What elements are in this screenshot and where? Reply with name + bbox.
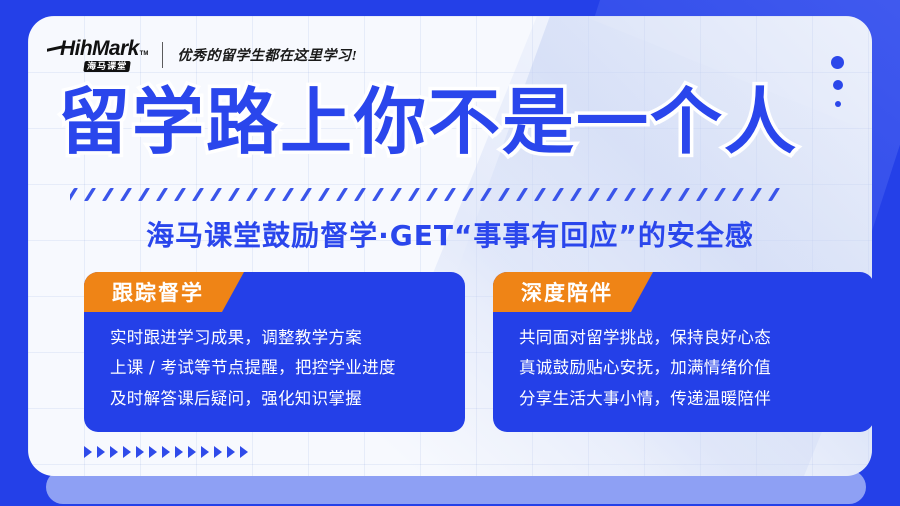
slash-dash-icon xyxy=(282,188,294,201)
slash-dash-icon xyxy=(444,188,456,201)
trademark-icon: TM xyxy=(140,51,149,57)
logo-suffix-text: hMark xyxy=(80,38,139,59)
arrow-right-icon xyxy=(227,446,235,458)
subtitle-text: 海马课堂鼓励督学·GET“事事有回应”的安全感 xyxy=(28,214,872,254)
card-body-tracking: 实时跟进学习成果，调整教学方案 上课 / 考试等节点提醒，把控学业进度 及时解答… xyxy=(84,320,465,410)
slash-dash-icon xyxy=(624,188,636,201)
slash-divider xyxy=(70,188,860,204)
dot-decoration-group xyxy=(831,56,844,107)
feature-card-tracking: 跟踪督学 实时跟进学习成果，调整教学方案 上课 / 考试等节点提醒，把控学业进度… xyxy=(84,272,465,432)
slash-dash-icon xyxy=(102,188,114,201)
card-title-companionship: 深度陪伴 xyxy=(493,272,653,312)
slash-dash-icon xyxy=(660,188,672,201)
card-line: 分享生活大事小情，传递温暖陪伴 xyxy=(519,387,848,410)
slash-dash-icon xyxy=(750,188,762,201)
slash-dash-icon xyxy=(768,188,780,201)
slash-dash-icon xyxy=(588,188,600,201)
arrow-right-icon xyxy=(97,446,105,458)
slash-dash-icon xyxy=(70,188,78,201)
slash-dash-icon xyxy=(408,188,420,201)
slash-dash-icon xyxy=(516,188,528,201)
slash-dash-icon xyxy=(264,188,276,201)
card-line: 及时解答课后疑问，强化知识掌握 xyxy=(110,387,439,410)
arrow-decoration-row xyxy=(84,446,248,458)
slash-dash-icon xyxy=(318,188,330,201)
slash-dash-icon xyxy=(354,188,366,201)
dot-medium-icon xyxy=(833,80,843,90)
slash-dash-icon xyxy=(462,188,474,201)
slash-dash-icon xyxy=(552,188,564,201)
slash-dash-icon xyxy=(606,188,618,201)
promo-banner: HihMarkTM 海马课堂 优秀的留学生都在这里学习! 留学路上你不是一个人 … xyxy=(0,0,900,506)
slash-dash-icon xyxy=(480,188,492,201)
slash-dash-icon xyxy=(138,188,150,201)
logo-divider xyxy=(162,42,163,68)
slash-dash-icon xyxy=(300,188,312,201)
feature-cards: 跟踪督学 实时跟进学习成果，调整教学方案 上课 / 考试等节点提醒，把控学业进度… xyxy=(84,272,872,432)
arrow-right-icon xyxy=(188,446,196,458)
card-body-companionship: 共同面对留学挑战，保持良好心态 真诚鼓励贴心安抚，加满情绪价值 分享生活大事小情… xyxy=(493,320,872,410)
card-title-tracking: 跟踪督学 xyxy=(84,272,244,312)
slash-dash-icon xyxy=(498,188,510,201)
card-line: 共同面对留学挑战，保持良好心态 xyxy=(519,326,848,349)
slash-dash-icon xyxy=(228,188,240,201)
slash-dash-icon xyxy=(156,188,168,201)
brand-header: HihMarkTM 海马课堂 优秀的留学生都在这里学习! xyxy=(54,38,357,72)
slash-dash-icon xyxy=(678,188,690,201)
slash-dash-icon xyxy=(120,188,132,201)
slash-dash-icon xyxy=(714,188,726,201)
arrow-right-icon xyxy=(123,446,131,458)
slash-dash-icon xyxy=(390,188,402,201)
slash-dash-icon xyxy=(210,188,222,201)
content-panel: HihMarkTM 海马课堂 优秀的留学生都在这里学习! 留学路上你不是一个人 … xyxy=(28,16,872,476)
logo-wordmark: HihMarkTM xyxy=(54,38,148,59)
brand-tagline: 优秀的留学生都在这里学习! xyxy=(177,45,357,65)
slash-dash-icon xyxy=(336,188,348,201)
headline-text: 留学路上你不是一个人 xyxy=(58,86,798,158)
arrow-right-icon xyxy=(136,446,144,458)
card-line: 实时跟进学习成果，调整教学方案 xyxy=(110,326,439,349)
slash-dash-icon xyxy=(372,188,384,201)
logo-chinese-name: 海马课堂 xyxy=(83,61,131,72)
slash-dash-icon xyxy=(696,188,708,201)
dot-small-icon xyxy=(835,101,841,107)
slash-dash-icon xyxy=(192,188,204,201)
card-line: 真诚鼓励贴心安抚，加满情绪价值 xyxy=(519,356,848,379)
dot-large-icon xyxy=(831,56,844,69)
logo-prefix-text: Hi xyxy=(54,38,80,59)
arrow-right-icon xyxy=(214,446,222,458)
slash-dash-icon xyxy=(642,188,654,201)
arrow-right-icon xyxy=(110,446,118,458)
card-line: 上课 / 考试等节点提醒，把控学业进度 xyxy=(110,356,439,379)
slash-dash-icon xyxy=(534,188,546,201)
feature-card-companionship: 深度陪伴 共同面对留学挑战，保持良好心态 真诚鼓励贴心安抚，加满情绪价值 分享生… xyxy=(493,272,872,432)
slash-dash-icon xyxy=(426,188,438,201)
arrow-right-icon xyxy=(149,446,157,458)
slash-dash-icon xyxy=(732,188,744,201)
slash-dash-icon xyxy=(570,188,582,201)
arrow-right-icon xyxy=(240,446,248,458)
slash-dash-icon xyxy=(174,188,186,201)
slash-dash-icon xyxy=(246,188,258,201)
arrow-right-icon xyxy=(162,446,170,458)
arrow-right-icon xyxy=(84,446,92,458)
slash-dash-icon xyxy=(84,188,96,201)
highmark-logo: HihMarkTM 海马课堂 xyxy=(54,38,148,72)
arrow-right-icon xyxy=(175,446,183,458)
arrow-right-icon xyxy=(201,446,209,458)
